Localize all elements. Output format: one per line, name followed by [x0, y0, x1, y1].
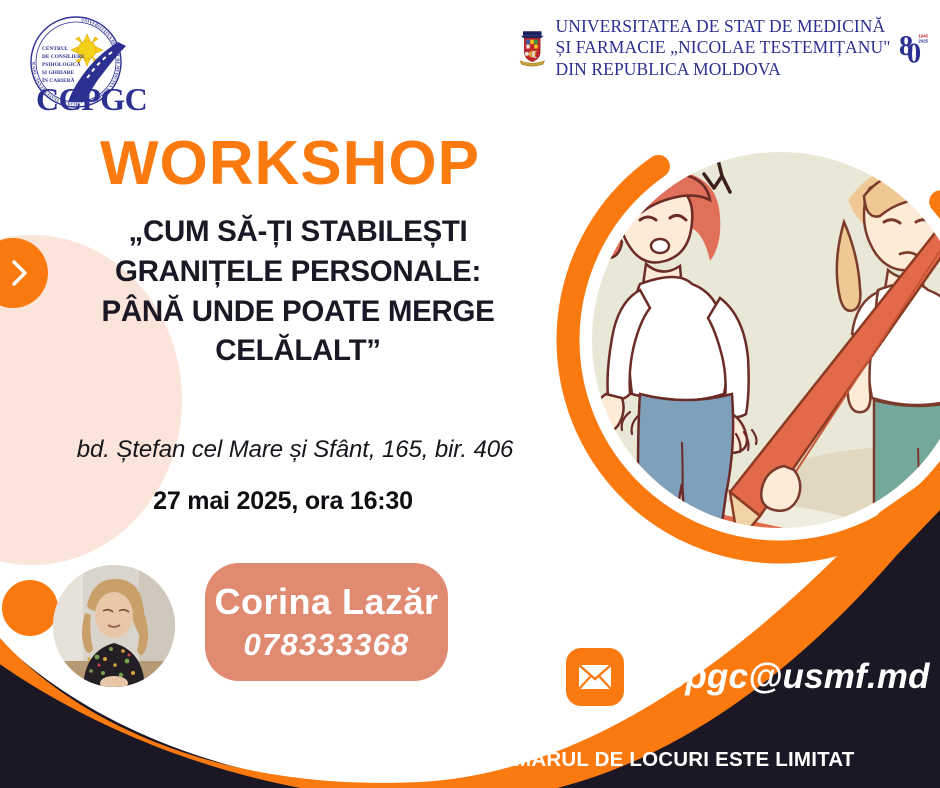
presenter-phone[interactable]: 078333368 [244, 627, 410, 663]
usmf-line-2: ȘI FARMACIE „NICOLAE TESTEMIȚANU" [556, 37, 891, 58]
subtitle-line-3: PÂNĂ UNDE POATE MERGE [20, 292, 576, 332]
orange-dot-decor [2, 580, 58, 636]
usmf-line-1: UNIVERSITATEA DE STAT DE MEDICINĂ [556, 16, 891, 37]
contact-email-row[interactable]: ccpgc@usmf.md [566, 648, 930, 706]
limited-seats-note: * NUMĂRUL DE LOCURI ESTE LIMITAT [470, 748, 855, 772]
envelope-glyph [578, 664, 612, 690]
subtitle-line-2: GRANIȚELE PERSONALE: [20, 252, 576, 292]
svg-text:ȘI GHIDARE: ȘI GHIDARE [42, 70, 75, 76]
presenter-avatar [53, 565, 175, 687]
usmf-line-3: DIN REPUBLICA MOLDOVA [556, 59, 891, 80]
event-address: bd. Ștefan cel Mare și Sfânt, 165, bir. … [10, 436, 580, 464]
subtitle-line-1: „CUM SĂ-ȚI STABILEȘTI [20, 212, 576, 252]
anniversary-year-from: 1945 [918, 34, 928, 39]
presenter-name-badge: Corina Lazăr 078333368 [205, 563, 448, 681]
anniversary-year-to: 2025 [918, 39, 928, 44]
ccpgc-logo: CENTRUL DE CONSILIERE PSIHOLOGICĂ ȘI GHI… [14, 10, 149, 120]
anniversary-80-icon: 8 0 1945 2025 [900, 10, 930, 86]
envelope-icon [566, 648, 624, 706]
svg-text:CCPGC: CCPGC [36, 81, 147, 117]
page-title-workshop: WORKSHOP [0, 128, 580, 199]
svg-text:PSIHOLOGICĂ: PSIHOLOGICĂ [42, 60, 81, 68]
svg-text:DE CONSILIERE: DE CONSILIERE [42, 54, 85, 60]
presenter-name: Corina Lazăr [214, 583, 438, 621]
university-crest-icon [518, 8, 547, 88]
contact-email-text[interactable]: ccpgc@usmf.md [646, 657, 930, 697]
workshop-subtitle: „CUM SĂ-ȚI STABILEȘTI GRANIȚELE PERSONAL… [20, 212, 576, 371]
subtitle-line-4: CELĂLALT” [20, 331, 576, 371]
illustration-two-women-boundary [548, 112, 940, 582]
event-datetime: 27 mai 2025, ora 16:30 [10, 487, 556, 516]
usmf-name-block: UNIVERSITATEA DE STAT DE MEDICINĂ ȘI FAR… [556, 16, 891, 80]
svg-text:CENTRUL: CENTRUL [42, 46, 69, 52]
avatar-photo [53, 565, 175, 687]
usmf-logo: UNIVERSITATEA DE STAT DE MEDICINĂ ȘI FAR… [518, 6, 930, 90]
poster-canvas: CENTRUL DE CONSILIERE PSIHOLOGICĂ ȘI GHI… [0, 0, 940, 788]
